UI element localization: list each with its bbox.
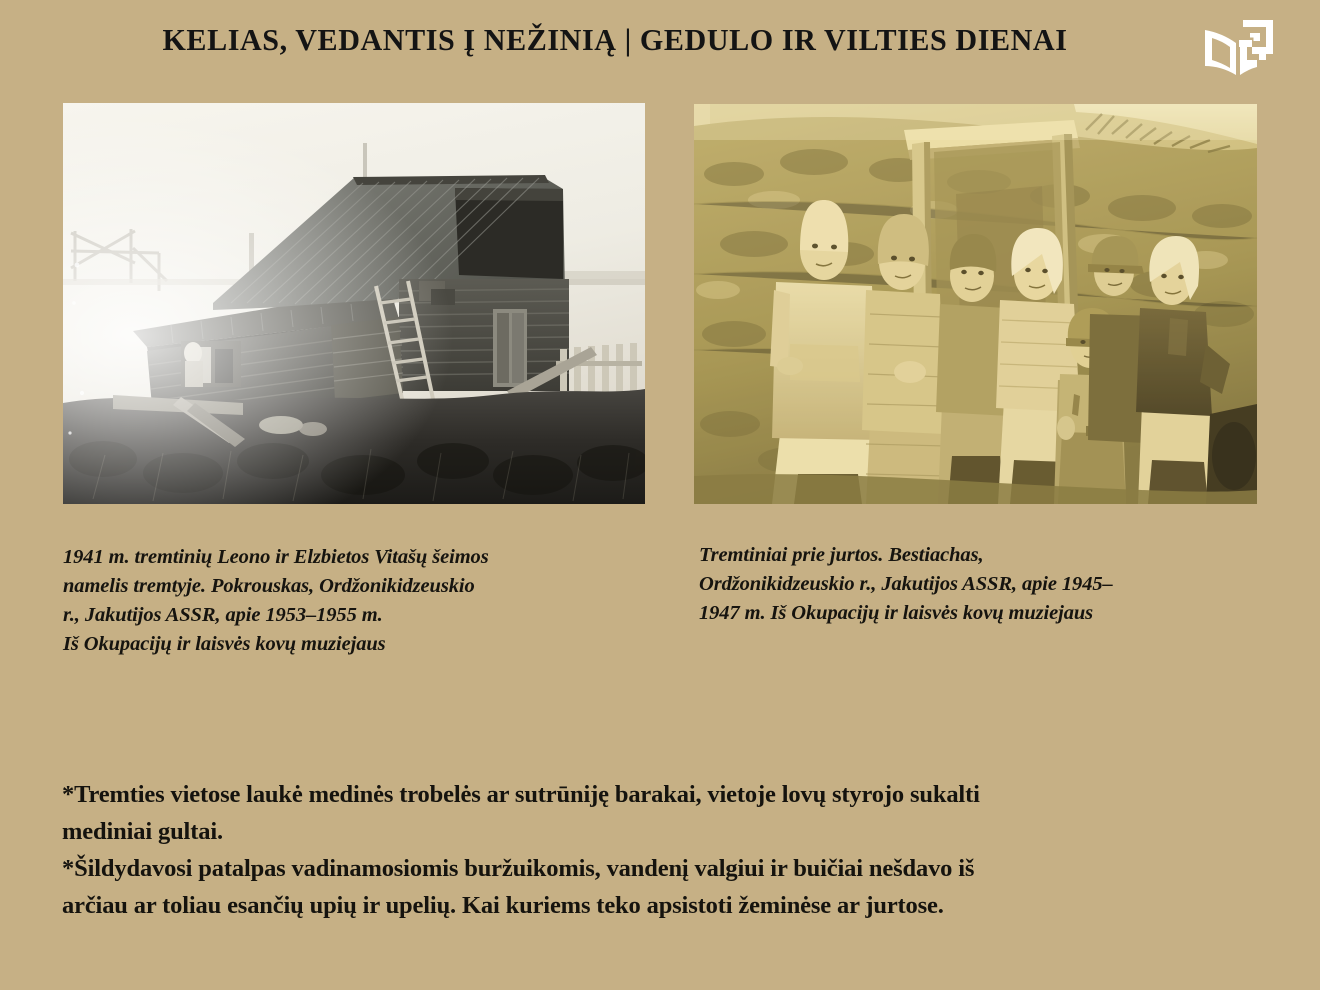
caption-left-photo: 1941 m. tremtinių Leono ir Elzbietos Vit… [63,543,653,659]
open-book-logo [1203,16,1275,76]
page-title: KELIAS, VEDANTIS Į NEŽINIĄ | GEDULO IR V… [77,22,1154,58]
caption-line: r., Jakutijos ASSR, apie 1953–1955 m. [63,601,653,630]
body-line: arčiau ar toliau esančių upių ir upelių.… [62,887,1267,924]
body-line: *Tremties vietose laukė medinės trobelės… [62,776,1267,813]
photo-deportee-cabin [63,103,645,504]
body-line: mediniai gultai. [62,813,1267,850]
photo-deportees-group [694,104,1257,504]
caption-line: 1947 m. Iš Okupacijų ir laisvės kovų muz… [699,599,1269,628]
caption-line: namelis tremtyje. Pokrouskas, Ordžonikid… [63,572,653,601]
body-line: *Šildydavosi patalpas vadinamosiomis bur… [62,850,1267,887]
caption-line: Tremtiniai prie jurtos. Bestiachas, [699,541,1269,570]
caption-line: 1941 m. tremtinių Leono ir Elzbietos Vit… [63,543,653,572]
page-header: KELIAS, VEDANTIS Į NEŽINIĄ | GEDULO IR V… [0,0,1320,92]
caption-line: Iš Okupacijų ir laisvės kovų muziejaus [63,630,653,659]
caption-line: Ordžonikidzeuskio r., Jakutijos ASSR, ap… [699,570,1269,599]
body-text: *Tremties vietose laukė medinės trobelės… [62,776,1267,924]
caption-right-photo: Tremtiniai prie jurtos. Bestiachas, Ordž… [699,541,1269,628]
